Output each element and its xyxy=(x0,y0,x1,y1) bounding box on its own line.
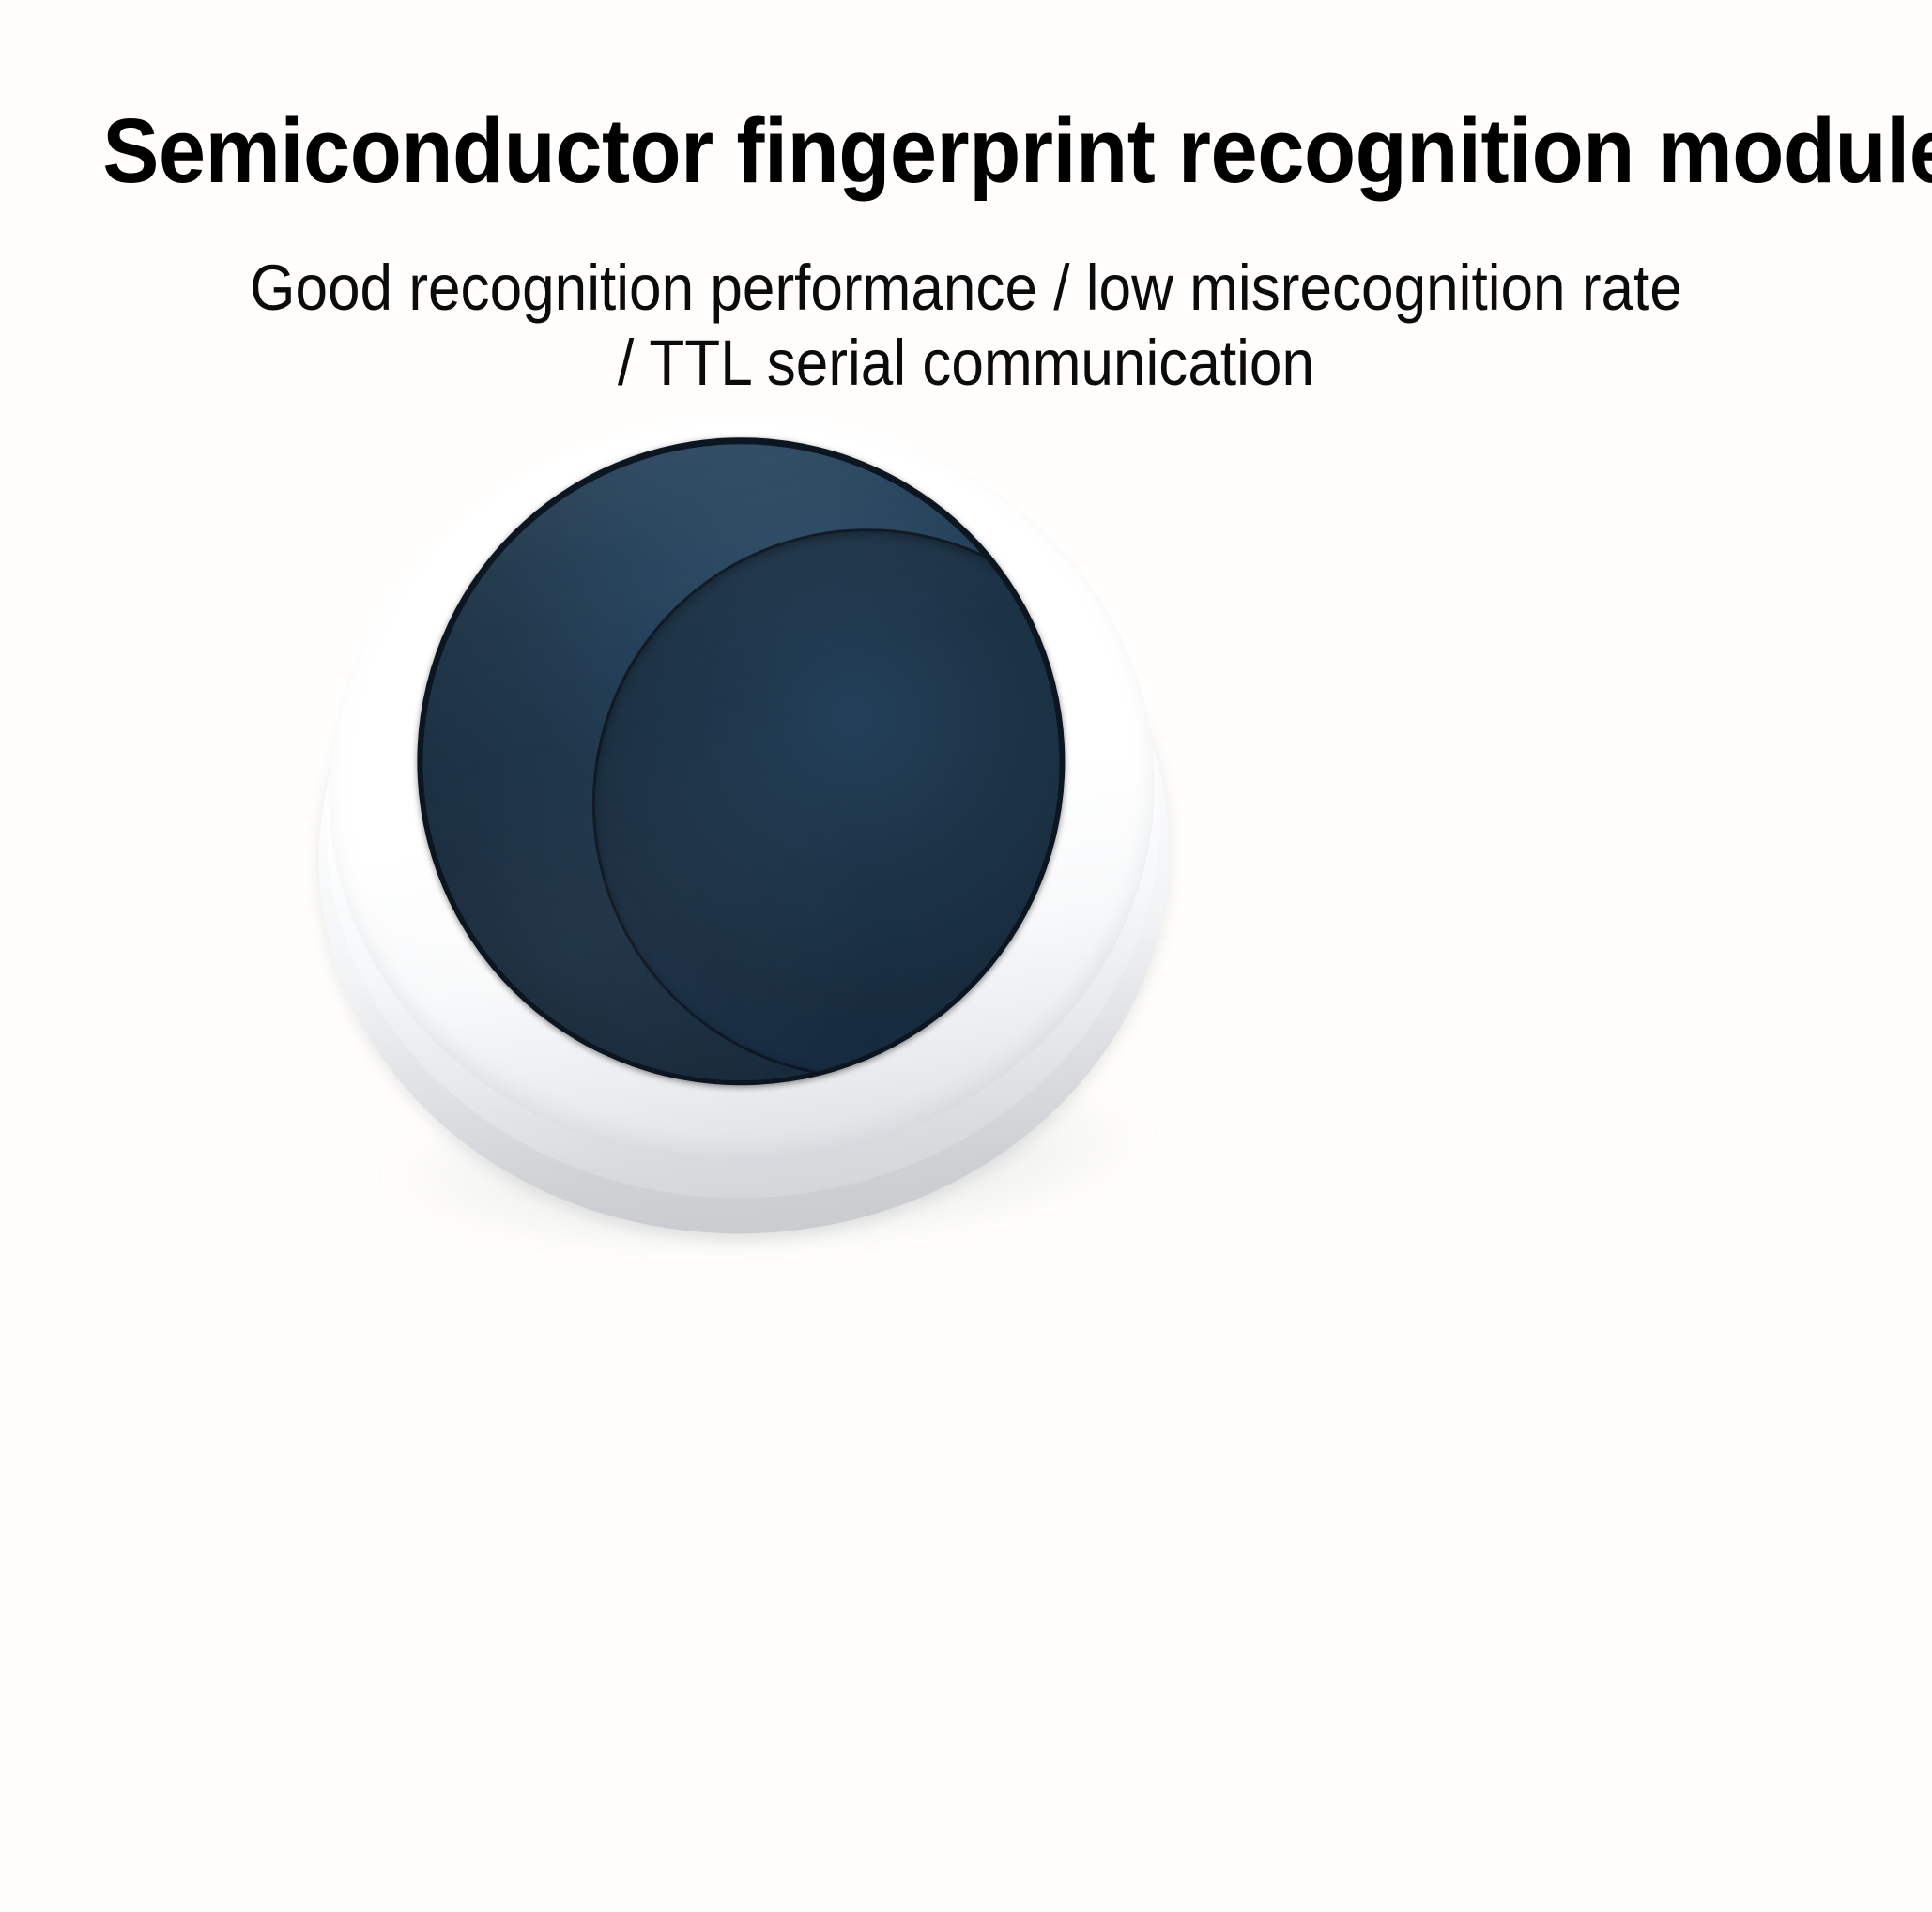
subtitle-line-1: Good recognition performance / low misre… xyxy=(97,251,1835,326)
subtitle-line-2: / TTL serial communication xyxy=(97,326,1835,401)
sensor-inner-engraved-circle xyxy=(578,514,1076,1093)
page-title: Semiconductor fingerprint recognition mo… xyxy=(68,105,1864,196)
product-image-stage xyxy=(0,404,1932,1342)
product-subtitle: Good recognition performance / low misre… xyxy=(97,251,1835,401)
header-text-block: Semiconductor fingerprint recognition mo… xyxy=(0,0,1932,401)
fingerprint-module-product-image xyxy=(288,381,1204,1270)
